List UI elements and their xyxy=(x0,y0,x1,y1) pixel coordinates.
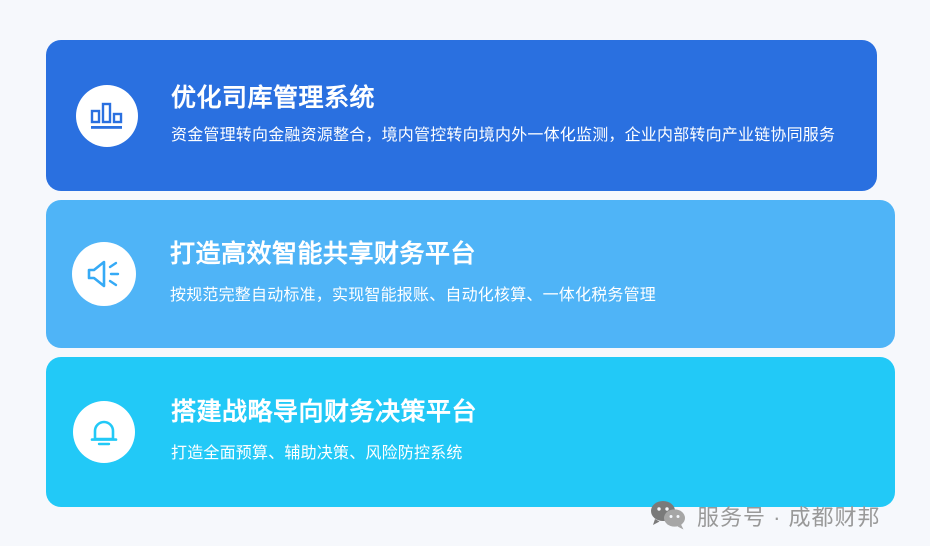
speaker-icon xyxy=(86,258,122,290)
bell-icon-badge xyxy=(73,401,135,463)
feature-card-3[interactable]: 搭建战略导向财务决策平台 打造全面预算、辅助决策、风险防控系统 xyxy=(46,357,895,507)
speaker-icon-badge xyxy=(72,242,136,306)
feature-card-2[interactable]: 打造高效智能共享财务平台 按规范完整自动标准，实现智能报账、自动化核算、一体化税… xyxy=(46,200,895,348)
slide-canvas: 优化司库管理系统 资金管理转向金融资源整合，境内管控转向境内外一体化监测，企业内… xyxy=(0,0,930,546)
feature-card-1-text: 优化司库管理系统 资金管理转向金融资源整合，境内管控转向境内外一体化监测，企业内… xyxy=(138,81,877,151)
bar-chart-icon xyxy=(90,101,124,131)
bell-icon xyxy=(88,416,120,448)
feature-card-1-title: 优化司库管理系统 xyxy=(171,81,859,115)
feature-card-1-description: 资金管理转向金融资源整合，境内管控转向境内外一体化监测，企业内部转向产业链协同服… xyxy=(171,121,859,151)
feature-card-2-description: 按规范完整自动标准，实现智能报账、自动化核算、一体化税务管理 xyxy=(170,281,870,311)
feature-card-3-description: 打造全面预算、辅助决策、风险防控系统 xyxy=(171,439,871,469)
wechat-icon xyxy=(650,500,686,535)
feature-card-2-text: 打造高效智能共享财务平台 按规范完整自动标准，实现智能报账、自动化核算、一体化税… xyxy=(136,237,895,311)
feature-card-3-title: 搭建战略导向财务决策平台 xyxy=(171,395,877,429)
watermark-label: 服务号 · 成都财邦 xyxy=(697,504,881,532)
watermark: 服务号 · 成都财邦 xyxy=(650,500,881,535)
feature-card-2-title: 打造高效智能共享财务平台 xyxy=(170,237,877,271)
feature-card-3-text: 搭建战略导向财务决策平台 打造全面预算、辅助决策、风险防控系统 xyxy=(135,395,895,469)
feature-card-1[interactable]: 优化司库管理系统 资金管理转向金融资源整合，境内管控转向境内外一体化监测，企业内… xyxy=(46,40,877,191)
bar-chart-icon-badge xyxy=(76,85,138,147)
